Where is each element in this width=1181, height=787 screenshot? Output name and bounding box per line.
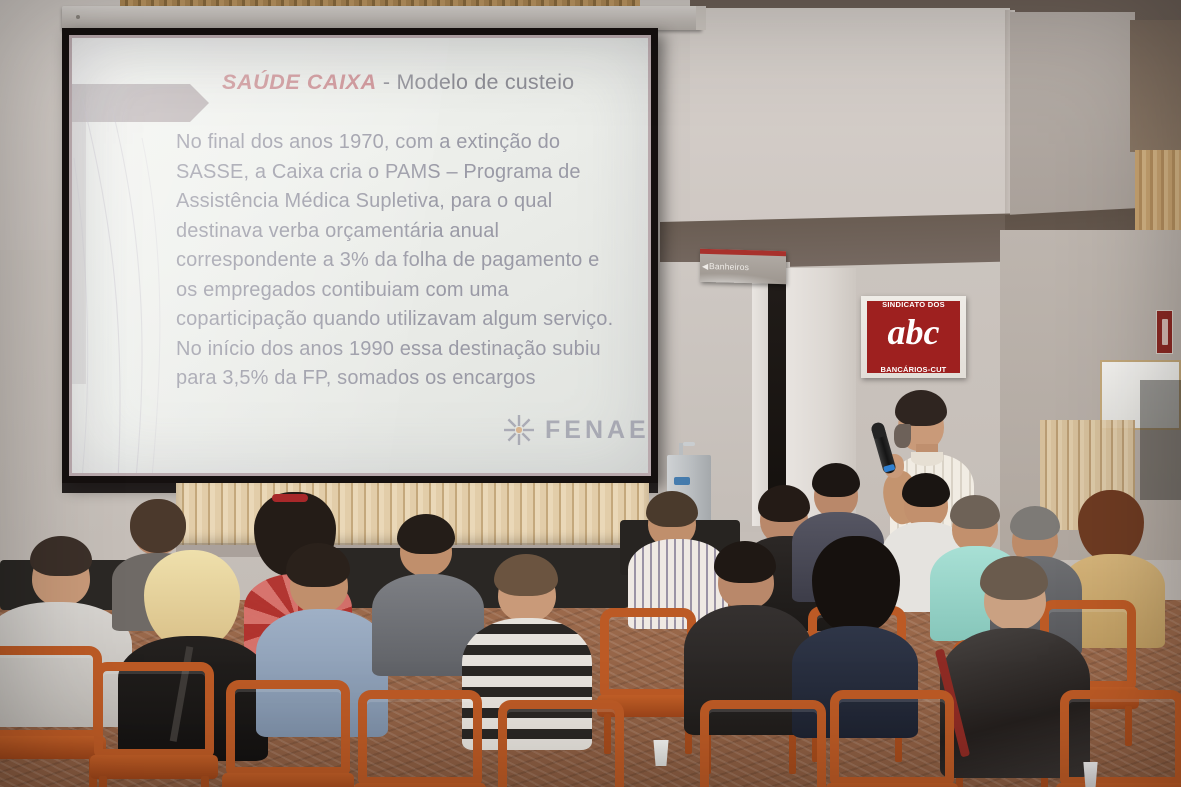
- right-wall-dark-panel: [1130, 20, 1181, 152]
- presenter-hair: [895, 390, 947, 426]
- cooler-tap: [683, 442, 695, 446]
- mic-head: [870, 421, 887, 439]
- cooler-badge: [674, 477, 690, 485]
- fenae-logo: FENAE: [502, 413, 648, 447]
- chair[interactable]: [226, 680, 350, 787]
- fenae-asterisk-icon: [502, 413, 536, 447]
- slide-surface: SAÚDE CAIXA - Modelo de custeio No final…: [72, 38, 648, 473]
- wall-face-center: [690, 8, 1010, 230]
- fire-extinguisher-sign-icon: [1156, 310, 1173, 354]
- hair: [980, 556, 1048, 600]
- union-banner-wordmark: abc: [861, 312, 966, 352]
- hair: [286, 543, 350, 587]
- chair[interactable]: [94, 662, 214, 787]
- hair: [812, 536, 900, 632]
- hair: [714, 541, 776, 583]
- hair: [144, 550, 240, 648]
- chair[interactable]: [1060, 690, 1181, 787]
- left-arrow-icon: ◀: [702, 262, 708, 271]
- sunglasses-on-head-icon: [272, 494, 308, 502]
- union-banner: SINDICATO DOS abc BANCÁRIOS-CUT: [861, 296, 966, 378]
- slide-title-rest: - Modelo de custeio: [377, 70, 575, 94]
- hair: [812, 463, 860, 497]
- rear-doorway: [1140, 380, 1181, 500]
- hair: [494, 554, 558, 596]
- chair[interactable]: [700, 700, 826, 787]
- slide-title: SAÚDE CAIXA - Modelo de custeio: [222, 70, 642, 95]
- hair: [646, 491, 698, 527]
- wall-face-right: [1010, 12, 1135, 230]
- hair: [1078, 490, 1144, 560]
- chair[interactable]: [358, 690, 482, 787]
- fenae-wordmark: FENAE: [545, 416, 648, 445]
- projection-screen: SAÚDE CAIXA - Modelo de custeio No final…: [62, 28, 658, 483]
- restroom-sign: ◀ Banheiros: [700, 249, 786, 284]
- handheld-microphone[interactable]: [870, 421, 897, 475]
- slide-title-highlight: SAÚDE CAIXA: [222, 70, 377, 94]
- screen-border: SAÚDE CAIXA - Modelo de custeio No final…: [69, 35, 651, 476]
- slide-body-text: No final dos anos 1970, com a extinção d…: [176, 128, 626, 394]
- presenter-collar: [911, 452, 943, 466]
- chair[interactable]: [0, 646, 102, 787]
- hair: [1010, 506, 1060, 540]
- roller-end-cap: [696, 6, 706, 30]
- chair[interactable]: [498, 700, 624, 787]
- union-banner-top-line: SINDICATO DOS: [861, 300, 966, 309]
- restroom-sign-label: Banheiros: [709, 261, 749, 272]
- hair: [130, 499, 186, 553]
- union-banner-bottom-line: BANCÁRIOS-CUT: [861, 365, 966, 374]
- presenter-beard: [894, 424, 911, 448]
- hair: [397, 514, 455, 554]
- projector-screen-roller: [62, 6, 702, 30]
- roller-screw: [76, 15, 80, 19]
- auditorium-photo: ◀ Banheiros SINDICATO DOS abc BANCÁRIOS-…: [0, 0, 1181, 787]
- restroom-sign-accent: [700, 249, 786, 256]
- hair: [30, 536, 92, 576]
- chair[interactable]: [830, 690, 954, 787]
